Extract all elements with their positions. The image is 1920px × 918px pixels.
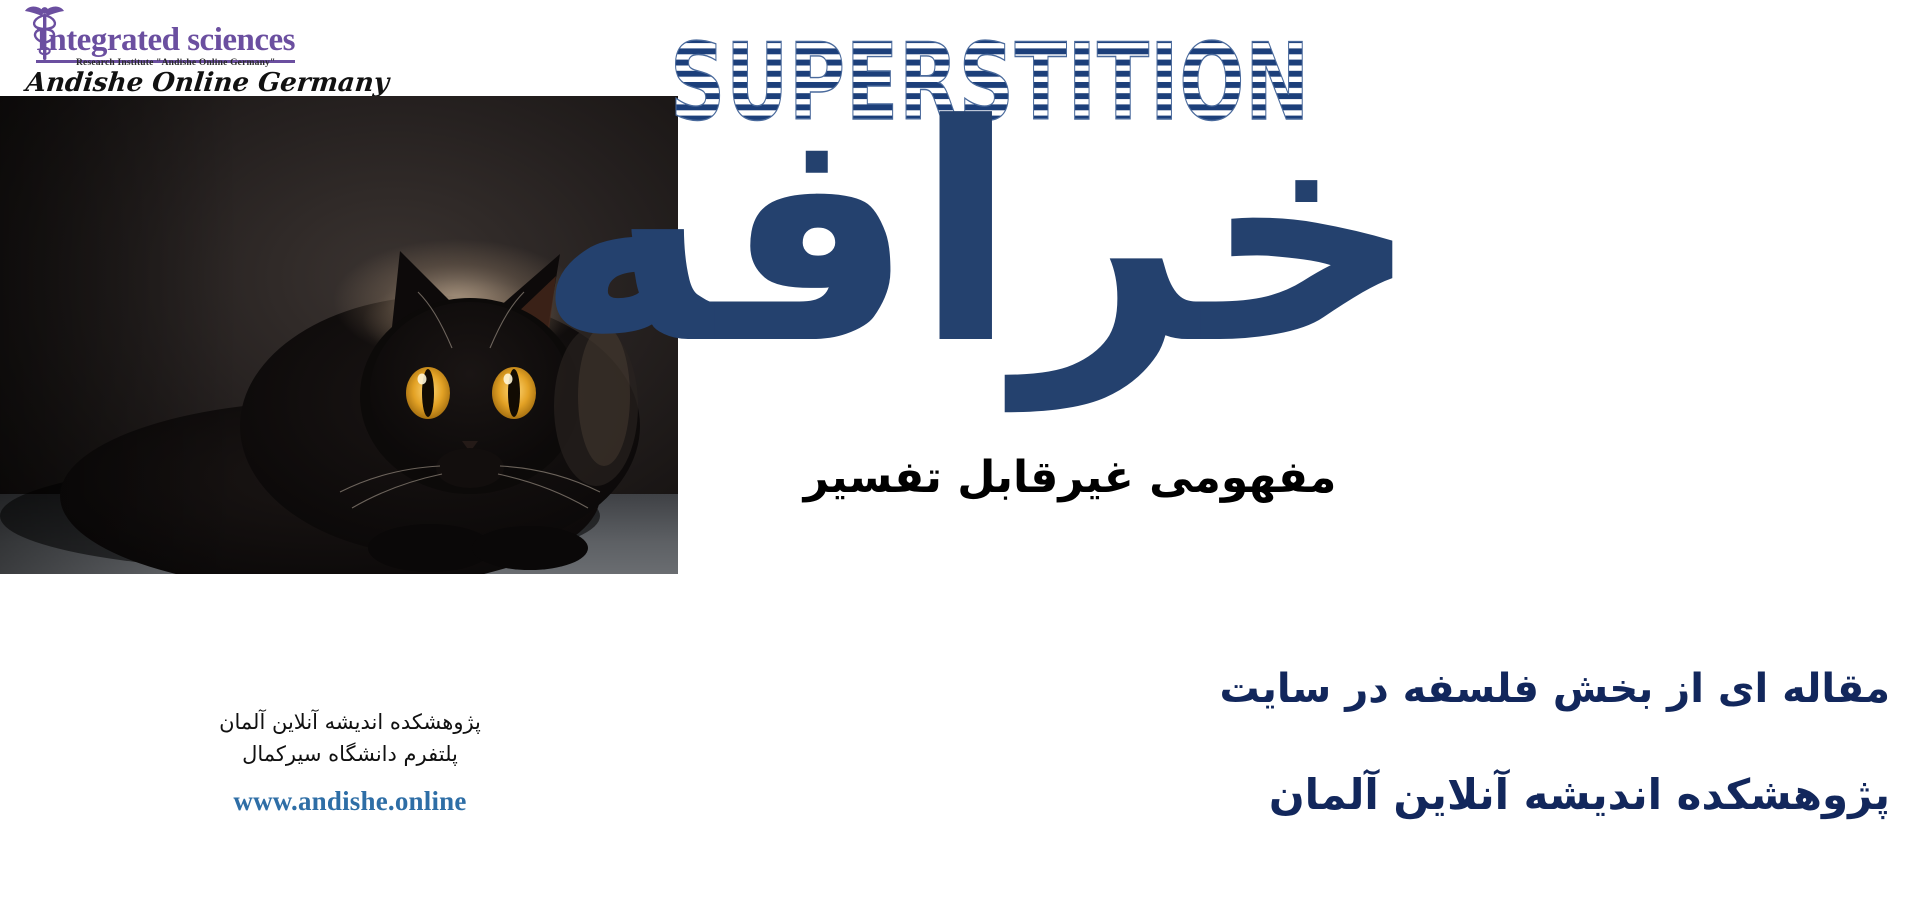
- logo-main-text: Integrated sciences: [36, 22, 295, 63]
- website-url-link[interactable]: www.andishe.online: [100, 786, 600, 817]
- footer-left-line-1: پژوهشکده اندیشه آنلاین آلمان: [100, 706, 600, 738]
- logo-script-text: Andishe Online Germany: [24, 68, 390, 98]
- footer-left-line-2: پلتفرم دانشگاه سیرکمال: [100, 738, 600, 770]
- footer-left: پژوهشکده اندیشه آنلاین آلمان پلتفرم دانش…: [100, 706, 600, 817]
- poster-canvas: Integrated sciences Research Institute "…: [0, 0, 1920, 918]
- brand-logo: Integrated sciences Research Institute "…: [8, 2, 338, 107]
- footer-right-line-2: پژوهشکده اندیشه آنلاین آلمان: [810, 766, 1890, 824]
- footer-right-line-1: مقاله ای از بخش فلسفه در سایت: [810, 660, 1890, 718]
- persian-title: خرافه: [680, 86, 1420, 386]
- persian-subtitle: مفهومی غیرقابل تفسیر: [700, 452, 1440, 504]
- logo-sub-text: Research Institute "Andishe Online Germa…: [76, 58, 275, 68]
- footer-right: مقاله ای از بخش فلسفه در سایت پژوهشکده ا…: [810, 660, 1890, 824]
